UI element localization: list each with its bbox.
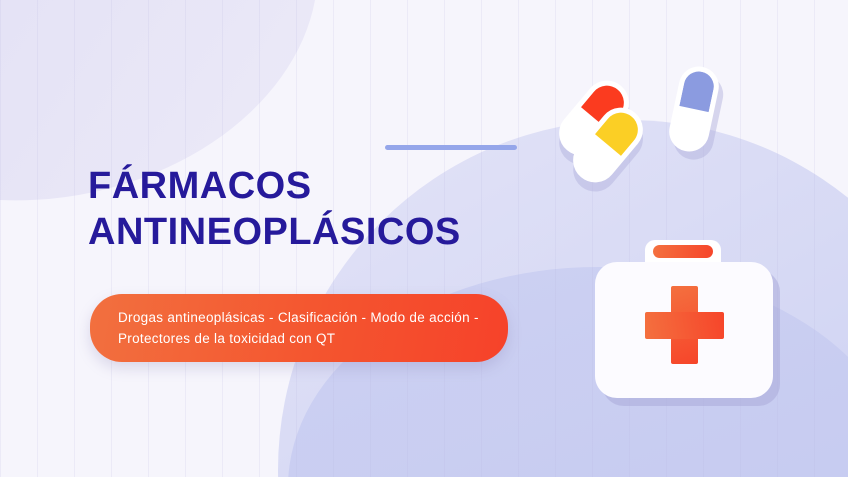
presentation-title-slide: FÁRMACOS ANTINEOPLÁSICOS Drogas antineop… bbox=[0, 0, 848, 477]
title-divider-rule bbox=[385, 145, 517, 150]
subtitle-text: Drogas antineoplásicas - Clasificación -… bbox=[118, 307, 482, 349]
kit-handle-bar bbox=[653, 245, 713, 258]
subtitle-banner: Drogas antineoplásicas - Clasificación -… bbox=[90, 294, 508, 362]
first-aid-kit-icon bbox=[595, 240, 773, 398]
blue-capsule-top-half bbox=[679, 69, 716, 112]
page-title: FÁRMACOS ANTINEOPLÁSICOS bbox=[88, 163, 461, 255]
medical-cross-icon-horizontal bbox=[645, 312, 724, 339]
